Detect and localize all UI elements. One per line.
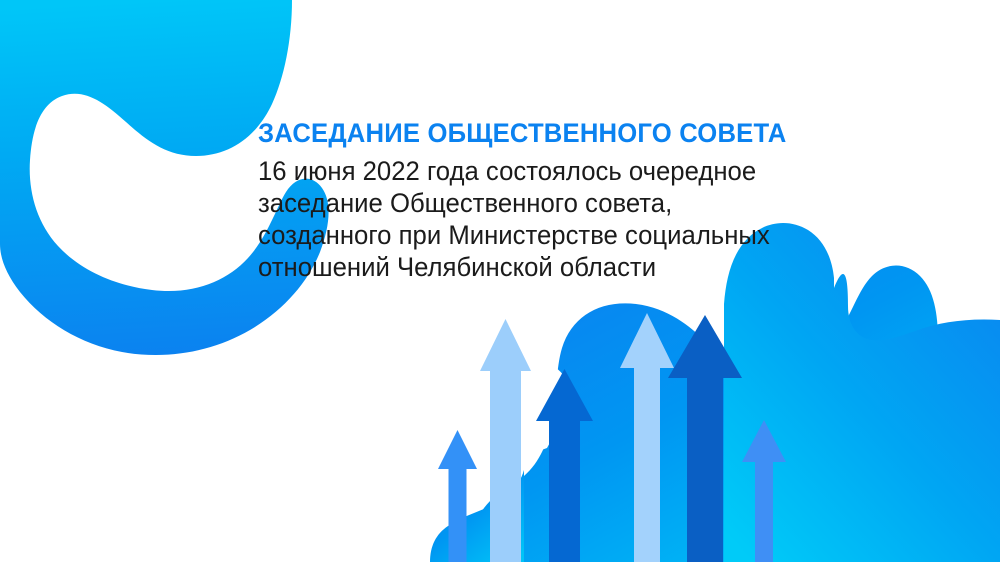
body-paragraph: 16 июня 2022 года состоялось очередное з… bbox=[258, 155, 918, 283]
body-line: отношений Челябинской области bbox=[258, 251, 918, 283]
slide-canvas: ЗАСЕДАНИЕ ОБЩЕСТВЕННОГО СОВЕТА 16 июня 2… bbox=[0, 0, 1000, 562]
body-line: 16 июня 2022 года состоялось очередное bbox=[258, 155, 918, 187]
page-title: ЗАСЕДАНИЕ ОБЩЕСТВЕННОГО СОВЕТА bbox=[258, 118, 904, 148]
body-line: заседание Общественного совета, bbox=[258, 187, 918, 219]
text-block: ЗАСЕДАНИЕ ОБЩЕСТВЕННОГО СОВЕТА 16 июня 2… bbox=[258, 118, 938, 283]
body-line: созданного при Министерстве социальных bbox=[258, 219, 918, 251]
